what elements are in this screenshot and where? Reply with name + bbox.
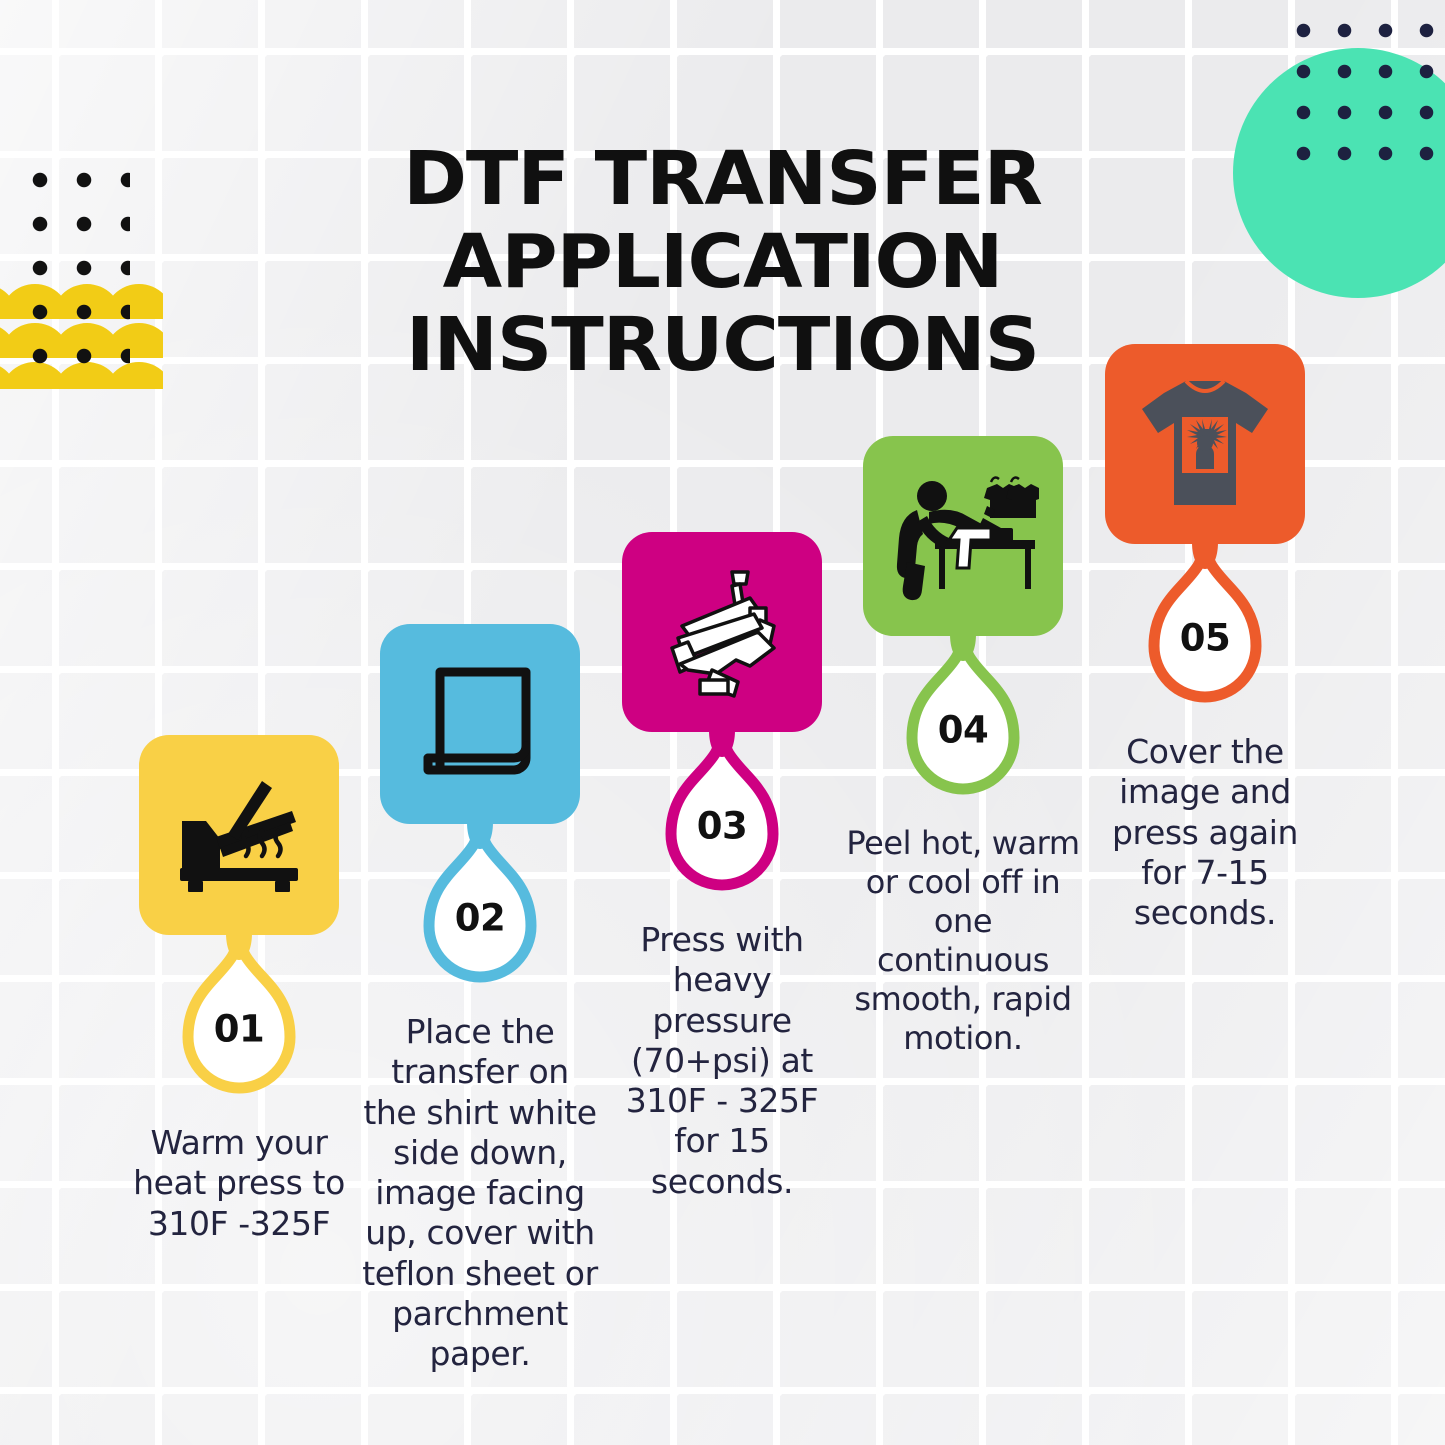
step-02-icon-card [380, 624, 580, 824]
step-card-02[interactable]: 02 Place the transfer on the shirt white… [357, 624, 603, 1374]
step-05-caption: Cover the image and press again for 7-15… [1082, 732, 1328, 933]
step-01-caption: Warm your heat press to 310F -325F [116, 1123, 362, 1244]
peel-transfer-worker-icon [887, 470, 1039, 602]
step-card-03[interactable]: 03 Press with heavy pressure (70+psi) at… [599, 532, 845, 1202]
transfer-sheet-icon [418, 662, 542, 786]
printed-tshirt-icon [1134, 375, 1276, 513]
heat-press-machine-icon [654, 564, 790, 700]
steps-container: 01 Warm your heat press to 310F -325F [0, 0, 1445, 1445]
step-03-icon-card [622, 532, 822, 732]
step-02-connector: 02 [357, 822, 603, 996]
step-01-connector: 01 [116, 933, 362, 1107]
step-03-connector: 03 [599, 730, 845, 904]
step-01-number: 01 [214, 1008, 265, 1051]
step-03-number: 03 [697, 805, 748, 848]
step-04-icon-card [863, 436, 1063, 636]
step-05-connector: 05 [1082, 542, 1328, 716]
step-04-number: 04 [938, 709, 989, 752]
step-card-04[interactable]: 04 Peel hot, warm or cool off in one con… [840, 436, 1086, 1058]
step-01-icon-card [139, 735, 339, 935]
heat-press-open-icon [170, 776, 308, 894]
step-04-connector: 04 [840, 634, 1086, 808]
dot-grid-left-decoration [4, 150, 130, 380]
step-02-number: 02 [455, 897, 506, 940]
step-05-icon-card [1105, 344, 1305, 544]
step-card-01[interactable]: 01 Warm your heat press to 310F -325F [116, 735, 362, 1244]
step-04-caption: Peel hot, warm or cool off in one contin… [840, 824, 1086, 1058]
step-03-caption: Press with heavy pressure (70+psi) at 31… [599, 920, 845, 1202]
step-card-05[interactable]: 05 Cover the image and press again for 7… [1082, 344, 1328, 933]
step-05-number: 05 [1180, 617, 1231, 660]
step-02-caption: Place the transfer on the shirt white si… [357, 1012, 603, 1374]
